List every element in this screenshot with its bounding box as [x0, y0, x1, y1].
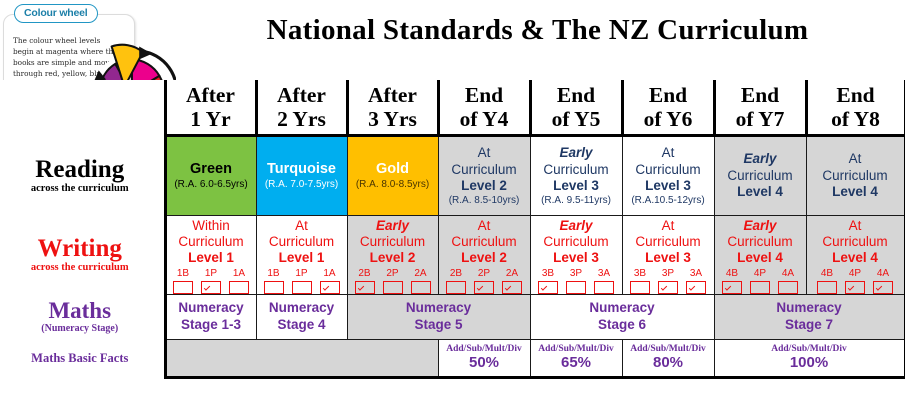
column-header-1: After1 Yr: [165, 80, 256, 136]
colour-wheel-badge: Colour wheel: [14, 4, 98, 23]
column-header-6: Endof Y6: [622, 80, 714, 136]
writing-sublevel-codes: 2B2P2A: [348, 268, 438, 280]
writing-level: Level 4: [807, 250, 904, 266]
writing-checkbox-wrap: [229, 281, 249, 294]
writing-checkbox-wrap: [658, 281, 678, 294]
checkbox-2A[interactable]: [411, 281, 431, 294]
writing-sublevel-code: 2B: [355, 268, 375, 280]
reading-curriculum-word: Curriculum: [533, 162, 620, 178]
checkbox-4P[interactable]: [750, 281, 770, 294]
maths-line1: Numeracy: [715, 300, 904, 316]
column-header-4: Endof Y4: [438, 80, 530, 136]
writing-sublevel-code: 3A: [594, 268, 614, 280]
basic-facts-percent: 65%: [531, 355, 622, 372]
checkbox-1P[interactable]: [292, 281, 312, 294]
basic-facts-operations: Add/Sub/Mult/Div: [439, 344, 530, 354]
reading-cell-3: Gold(R.A. 8.0-8.5yrs): [347, 136, 438, 216]
row-label-reading: Reading across the curriculum: [0, 136, 165, 216]
writing-cell-content: EarlyCurriculumLevel 44B4P4A: [715, 216, 806, 294]
writing-sublevel-code: 4P: [750, 268, 770, 280]
writing-checkbox-wrap: [750, 281, 770, 294]
maths-stage: Stage 1-3: [167, 317, 256, 333]
reading-qualifier: At: [809, 151, 902, 167]
writing-checkbox-wrap: [566, 281, 586, 294]
writing-sublevel-codes: 3B3P3A: [531, 268, 622, 280]
column-header-line2: of Y8: [808, 107, 904, 131]
checkbox-4A[interactable]: [873, 281, 893, 294]
reading-colour-name: Green: [169, 161, 254, 179]
reading-cell-1: Green(R.A. 6.0-6.5yrs): [165, 136, 256, 216]
basic-facts-cell-1: [165, 339, 438, 377]
reading-reading-age: (R.A. 9.5-11yrs): [533, 195, 620, 207]
writing-sublevel-checkboxes: [167, 281, 256, 294]
writing-qualifier: At: [807, 218, 904, 234]
writing-sublevel-code: 4A: [778, 268, 798, 280]
writing-qualifier: Within: [167, 218, 256, 234]
writing-level: Level 3: [531, 250, 622, 266]
writing-sublevel-code: 1P: [292, 268, 312, 280]
writing-sublevel-code: 4B: [817, 268, 837, 280]
writing-sublevel-checkboxes: [531, 281, 622, 294]
column-header-line2: 2 Yrs: [258, 107, 346, 131]
row-label-reading-title: Reading: [0, 157, 160, 182]
writing-cell-3: EarlyCurriculumLevel 22B2P2A: [347, 216, 438, 295]
writing-level: Level 2: [348, 250, 438, 266]
maths-stage: Stage 7: [715, 317, 904, 333]
writing-qualifier: At: [257, 218, 347, 234]
reading-cell-6: AtCurriculumLevel 3(R.A.10.5-12yrs): [622, 136, 714, 216]
writing-sublevel-code: 1B: [264, 268, 284, 280]
writing-curriculum-word: Curriculum: [257, 234, 347, 250]
reading-qualifier: Early: [717, 151, 804, 167]
maths-cell-3: NumeracyStage 5: [347, 294, 530, 339]
basic-facts-operations: Add/Sub/Mult/Div: [531, 344, 622, 354]
writing-cell-6: AtCurriculumLevel 33B3P3A: [622, 216, 714, 295]
writing-checkbox-wrap: [446, 281, 466, 294]
reading-cell-content: EarlyCurriculumLevel 4: [715, 149, 806, 202]
writing-checkbox-wrap: [355, 281, 375, 294]
maths-stage: Stage 6: [531, 317, 714, 333]
reading-level: Level 2: [441, 178, 528, 194]
writing-checkbox-wrap: [411, 281, 431, 294]
writing-curriculum-word: Curriculum: [623, 234, 714, 250]
reading-cell-content: EarlyCurriculumLevel 3(R.A. 9.5-11yrs): [531, 143, 622, 209]
writing-sublevel-checkboxes: [257, 281, 347, 294]
writing-checkbox-wrap: [320, 281, 340, 294]
maths-line1: Numeracy: [167, 300, 256, 316]
header-corner-blank: [0, 80, 165, 136]
reading-level: Level 3: [533, 178, 620, 194]
column-header-line1: After: [258, 83, 346, 107]
writing-sublevel-code: 3B: [630, 268, 650, 280]
row-label-basic-facts: Maths Basic Facts: [0, 339, 165, 377]
writing-sublevel-checkboxes: [439, 281, 530, 294]
writing-qualifier: Early: [348, 218, 438, 234]
writing-checkbox-wrap: [817, 281, 837, 294]
writing-curriculum-word: Curriculum: [715, 234, 806, 250]
writing-checkbox-wrap: [474, 281, 494, 294]
writing-curriculum-word: Curriculum: [167, 234, 256, 250]
writing-checkbox-wrap: [845, 281, 865, 294]
reading-curriculum-word: Curriculum: [625, 162, 712, 178]
reading-reading-age: (R.A. 8.0-8.5yrs): [350, 179, 436, 191]
row-label-writing: Writing across the curriculum: [0, 216, 165, 295]
maths-cell-5: NumeracyStage 7: [714, 294, 905, 339]
column-header-line2: 1 Yr: [167, 107, 255, 131]
reading-colour-name: Gold: [350, 161, 436, 179]
checkbox-3A[interactable]: [686, 281, 706, 294]
writing-qualifier: At: [439, 218, 530, 234]
checkbox-3P[interactable]: [658, 281, 678, 294]
reading-cell-2: Turquoise(R.A. 7.0-7.5yrs): [256, 136, 347, 216]
reading-reading-age: (R.A.10.5-12yrs): [625, 195, 712, 207]
writing-checkbox-wrap: [502, 281, 522, 294]
writing-sublevel-code: 1A: [229, 268, 249, 280]
reading-cell-content: Gold(R.A. 8.0-8.5yrs): [348, 159, 438, 193]
reading-level: Level 4: [717, 184, 804, 200]
reading-qualifier: Early: [533, 145, 620, 161]
reading-curriculum-word: Curriculum: [809, 168, 902, 184]
checkbox-3A[interactable]: [594, 281, 614, 294]
writing-curriculum-word: Curriculum: [348, 234, 438, 250]
column-header-line2: of Y4: [440, 107, 529, 131]
writing-checkbox-wrap: [778, 281, 798, 294]
column-header-3: After3 Yrs: [347, 80, 438, 136]
writing-cell-content: AtCurriculumLevel 22B2P2A: [439, 216, 530, 294]
column-header-line2: of Y5: [532, 107, 621, 131]
basic-facts-cell-4: Add/Sub/Mult/Div80%: [622, 339, 714, 377]
writing-sublevel-codes: 2B2P2A: [439, 268, 530, 280]
maths-stage: Stage 4: [257, 317, 347, 333]
reading-cell-content: Turquoise(R.A. 7.0-7.5yrs): [257, 159, 347, 193]
column-header-line1: End: [716, 83, 805, 107]
writing-cell-8: AtCurriculumLevel 44B4P4A: [806, 216, 905, 295]
basic-facts-cell-5: Add/Sub/Mult/Div100%: [714, 339, 905, 377]
checkbox-2A[interactable]: [502, 281, 522, 294]
writing-qualifier: Early: [715, 218, 806, 234]
writing-checkbox-wrap: [538, 281, 558, 294]
reading-curriculum-word: Curriculum: [717, 168, 804, 184]
checkbox-4P[interactable]: [845, 281, 865, 294]
writing-cell-4: AtCurriculumLevel 22B2P2A: [438, 216, 530, 295]
basic-facts-percent: 80%: [623, 355, 714, 372]
writing-sublevel-code: 3B: [538, 268, 558, 280]
basic-facts-operations: Add/Sub/Mult/Div: [715, 344, 904, 354]
writing-sublevel-code: 2A: [411, 268, 431, 280]
writing-cell-content: EarlyCurriculumLevel 22B2P2A: [348, 216, 438, 294]
writing-level: Level 1: [257, 250, 347, 266]
writing-sublevel-code: 2P: [474, 268, 494, 280]
maths-stage: Stage 5: [348, 317, 530, 333]
basic-facts-cell-3: Add/Sub/Mult/Div65%: [530, 339, 622, 377]
row-label-maths-sub: (Numeracy Stage): [0, 323, 160, 334]
reading-qualifier: At: [625, 145, 712, 161]
writing-level: Level 3: [623, 250, 714, 266]
maths-line1: Numeracy: [257, 300, 347, 316]
writing-level: Level 1: [167, 250, 256, 266]
writing-sublevel-checkboxes: [348, 281, 438, 294]
checkbox-4B[interactable]: [817, 281, 837, 294]
writing-level: Level 2: [439, 250, 530, 266]
writing-checkbox-wrap: [383, 281, 403, 294]
checkbox-3P[interactable]: [566, 281, 586, 294]
column-header-7: Endof Y7: [714, 80, 806, 136]
reading-cell-content: Green(R.A. 6.0-6.5yrs): [167, 159, 256, 193]
column-header-line1: End: [532, 83, 621, 107]
writing-sublevel-code: 4B: [722, 268, 742, 280]
writing-curriculum-word: Curriculum: [531, 234, 622, 250]
basic-facts-percent: 50%: [439, 355, 530, 372]
writing-checkbox-wrap: [722, 281, 742, 294]
reading-cell-7: EarlyCurriculumLevel 4: [714, 136, 806, 216]
column-header-line1: End: [440, 83, 529, 107]
writing-cell-5: EarlyCurriculumLevel 33B3P3A: [530, 216, 622, 295]
writing-cell-7: EarlyCurriculumLevel 44B4P4A: [714, 216, 806, 295]
reading-reading-age: (R.A. 6.0-6.5yrs): [169, 179, 254, 191]
column-header-line2: of Y7: [716, 107, 805, 131]
maths-line1: Numeracy: [531, 300, 714, 316]
checkbox-2B[interactable]: [355, 281, 375, 294]
writing-curriculum-word: Curriculum: [439, 234, 530, 250]
writing-sublevel-checkboxes: [807, 281, 904, 294]
writing-sublevel-codes: 1B1P1A: [167, 268, 256, 280]
row-label-maths-title: Maths: [0, 299, 160, 322]
writing-cell-1: WithinCurriculumLevel 11B1P1A: [165, 216, 256, 295]
reading-cell-content: AtCurriculumLevel 2(R.A. 8.5-10yrs): [439, 143, 530, 209]
writing-sublevel-code: 4P: [845, 268, 865, 280]
checkbox-2P[interactable]: [474, 281, 494, 294]
writing-checkbox-wrap: [686, 281, 706, 294]
checkbox-2P[interactable]: [383, 281, 403, 294]
checkbox-1A[interactable]: [320, 281, 340, 294]
writing-checkbox-wrap: [873, 281, 893, 294]
writing-sublevel-code: 2A: [502, 268, 522, 280]
writing-checkbox-wrap: [201, 281, 221, 294]
writing-sublevel-checkboxes: [623, 281, 714, 294]
row-basic-facts: Maths Basic Facts Add/Sub/Mult/Div50%Add…: [0, 339, 905, 377]
row-writing: Writing across the curriculum WithinCurr…: [0, 216, 905, 295]
page-title: National Standards & The NZ Curriculum: [180, 14, 895, 47]
column-header-5: Endof Y5: [530, 80, 622, 136]
reading-level: Level 4: [809, 184, 902, 200]
writing-sublevel-codes: 3B3P3A: [623, 268, 714, 280]
reading-reading-age: (R.A. 7.0-7.5yrs): [259, 179, 345, 191]
maths-cell-4: NumeracyStage 6: [530, 294, 714, 339]
row-reading: Reading across the curriculum Green(R.A.…: [0, 136, 905, 216]
checkbox-2B[interactable]: [446, 281, 466, 294]
maths-line1: Numeracy: [348, 300, 530, 316]
writing-sublevel-code: 3P: [566, 268, 586, 280]
checkbox-3B[interactable]: [630, 281, 650, 294]
checkbox-1A[interactable]: [229, 281, 249, 294]
header-row: After1 YrAfter2 YrsAfter3 YrsEndof Y4End…: [0, 80, 905, 136]
writing-sublevel-code: 1B: [173, 268, 193, 280]
reading-level: Level 3: [625, 178, 712, 194]
writing-curriculum-word: Curriculum: [807, 234, 904, 250]
writing-checkbox-wrap: [264, 281, 284, 294]
reading-curriculum-word: Curriculum: [441, 162, 528, 178]
basic-facts-percent: 100%: [715, 355, 904, 372]
writing-sublevel-code: 2B: [446, 268, 466, 280]
row-label-writing-sub: across the curriculum: [0, 262, 160, 274]
writing-sublevel-checkboxes: [715, 281, 806, 294]
checkbox-1P[interactable]: [201, 281, 221, 294]
standards-grid: After1 YrAfter2 YrsAfter3 YrsEndof Y4End…: [0, 80, 905, 379]
column-header-line1: After: [167, 83, 255, 107]
column-header-line1: End: [624, 83, 713, 107]
column-header-line2: of Y6: [624, 107, 713, 131]
writing-level: Level 4: [715, 250, 806, 266]
checkbox-1B[interactable]: [264, 281, 284, 294]
writing-sublevel-codes: 4B4P4A: [715, 268, 806, 280]
checkbox-1B[interactable]: [173, 281, 193, 294]
reading-cell-content: AtCurriculumLevel 4: [807, 149, 904, 202]
column-header-line1: After: [349, 83, 437, 107]
column-header-8: Endof Y8: [806, 80, 905, 136]
standards-table: After1 YrAfter2 YrsAfter3 YrsEndof Y4End…: [0, 80, 905, 379]
checkbox-4A[interactable]: [778, 281, 798, 294]
writing-cell-content: AtCurriculumLevel 11B1P1A: [257, 216, 347, 294]
writing-sublevel-codes: 1B1P1A: [257, 268, 347, 280]
column-header-2: After2 Yrs: [256, 80, 347, 136]
writing-sublevel-code: 1P: [201, 268, 221, 280]
writing-cell-content: AtCurriculumLevel 44B4P4A: [807, 216, 904, 294]
row-label-maths: Maths (Numeracy Stage): [0, 294, 165, 339]
basic-facts-cell-2: Add/Sub/Mult/Div50%: [438, 339, 530, 377]
writing-sublevel-code: 2P: [383, 268, 403, 280]
writing-cell-content: AtCurriculumLevel 33B3P3A: [623, 216, 714, 294]
writing-qualifier: Early: [531, 218, 622, 234]
basic-facts-operations: Add/Sub/Mult/Div: [623, 344, 714, 354]
writing-sublevel-code: 3P: [658, 268, 678, 280]
checkbox-3B[interactable]: [538, 281, 558, 294]
writing-qualifier: At: [623, 218, 714, 234]
reading-cell-8: AtCurriculumLevel 4: [806, 136, 905, 216]
maths-cell-2: NumeracyStage 4: [256, 294, 347, 339]
writing-checkbox-wrap: [594, 281, 614, 294]
writing-sublevel-code: 4A: [873, 268, 893, 280]
column-header-line2: 3 Yrs: [349, 107, 437, 131]
writing-sublevel-code: 3A: [686, 268, 706, 280]
row-label-writing-title: Writing: [0, 236, 160, 261]
writing-cell-2: AtCurriculumLevel 11B1P1A: [256, 216, 347, 295]
writing-checkbox-wrap: [630, 281, 650, 294]
writing-cell-content: WithinCurriculumLevel 11B1P1A: [167, 216, 256, 294]
row-label-reading-sub: across the curriculum: [0, 183, 160, 195]
column-header-line1: End: [808, 83, 904, 107]
reading-qualifier: At: [441, 145, 528, 161]
writing-cell-content: EarlyCurriculumLevel 33B3P3A: [531, 216, 622, 294]
writing-checkbox-wrap: [173, 281, 193, 294]
reading-colour-name: Turquoise: [259, 161, 345, 179]
writing-checkbox-wrap: [292, 281, 312, 294]
reading-cell-content: AtCurriculumLevel 3(R.A.10.5-12yrs): [623, 143, 714, 209]
row-label-basic-facts-title: Maths Basic Facts: [0, 352, 160, 365]
row-maths: Maths (Numeracy Stage) NumeracyStage 1-3…: [0, 294, 905, 339]
reading-cell-4: AtCurriculumLevel 2(R.A. 8.5-10yrs): [438, 136, 530, 216]
maths-cell-1: NumeracyStage 1-3: [165, 294, 256, 339]
writing-sublevel-code: 1A: [320, 268, 340, 280]
reading-cell-5: EarlyCurriculumLevel 3(R.A. 9.5-11yrs): [530, 136, 622, 216]
reading-reading-age: (R.A. 8.5-10yrs): [441, 195, 528, 207]
writing-sublevel-codes: 4B4P4A: [807, 268, 904, 280]
checkbox-4B[interactable]: [722, 281, 742, 294]
